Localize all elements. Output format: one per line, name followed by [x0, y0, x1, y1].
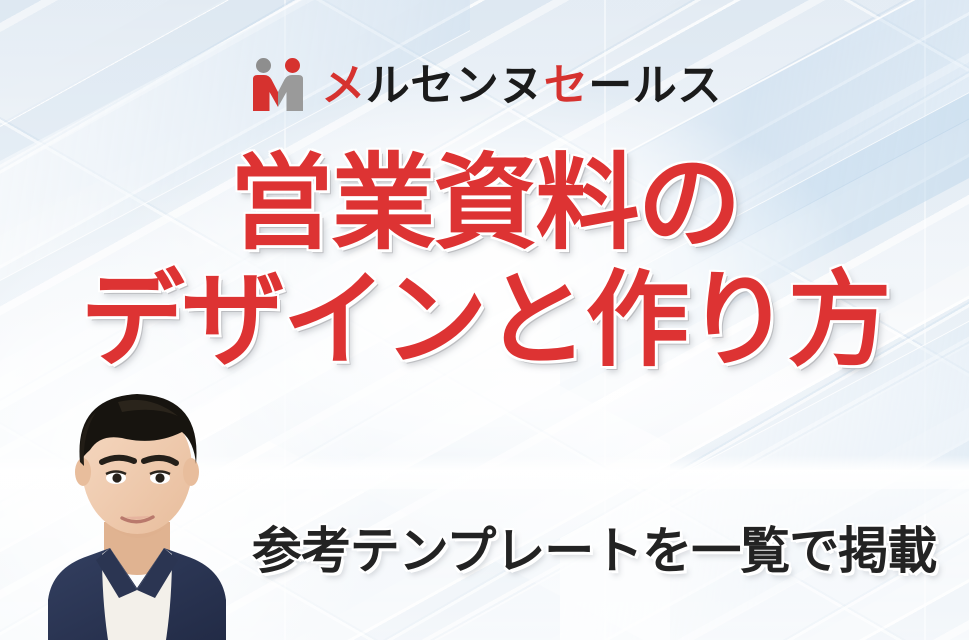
presenter-portrait	[22, 350, 252, 640]
mersenne-m-people-logo-icon	[247, 55, 309, 117]
headline-block: 営業資料の デザインと作り方	[0, 150, 969, 374]
subtitle-text: 参考テンプレートを一覧で掲載	[236, 524, 952, 579]
thumbnail-canvas: メルセンヌセールス 営業資料の デザインと作り方	[0, 0, 969, 640]
brand-name: メルセンヌセールス	[321, 64, 722, 108]
brand-name-seg-3: ールス	[588, 60, 722, 111]
brand-name-seg-1: ルセンヌ	[366, 60, 544, 111]
brand-logo-lockup: メルセンヌセールス	[0, 55, 969, 117]
brand-name-seg-2: セ	[544, 60, 589, 111]
headline-line-1: 営業資料の	[0, 150, 969, 257]
brand-name-seg-0: メ	[321, 60, 366, 111]
